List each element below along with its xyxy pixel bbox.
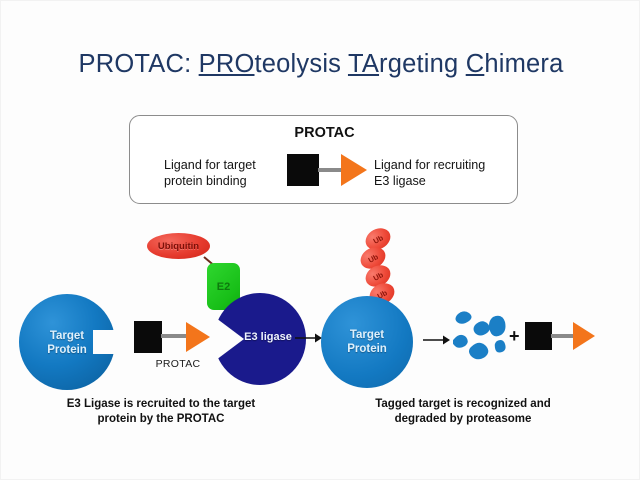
ligand-target-caption-line2: protein binding: [164, 174, 299, 190]
warhead-black-square: [287, 154, 319, 186]
ligand-e3-caption: Ligand for recruiting E3 ligase: [374, 158, 524, 189]
target-protein-right-line1: Target: [321, 329, 413, 343]
arrow-to-fragments: [423, 333, 451, 345]
plus-sign: +: [509, 326, 520, 347]
warhead-black-square-left: [134, 321, 162, 353]
ligand-e3-caption-line2: E3 ligase: [374, 174, 524, 190]
title-underline-ta: TA: [348, 50, 379, 78]
target-protein-right-line2: Protein: [321, 343, 413, 357]
linker-bar-left: [161, 334, 188, 338]
caption-right: Tagged target is recognized and degraded…: [327, 397, 599, 426]
title-rest-himera: himera: [484, 50, 563, 78]
target-protein-right: Target Protein: [321, 296, 413, 388]
protac-molecule-left-label: PROTAC: [143, 358, 213, 370]
e3-binder-orange-triangle: [341, 154, 367, 186]
title-underline-pro: PRO: [199, 50, 255, 78]
ubiquitin-badge: Ubiquitin: [147, 233, 210, 259]
protac-box-heading: PROTAC: [130, 125, 519, 141]
degraded-fragments: [453, 307, 513, 369]
arrow-left-to-right: [295, 331, 323, 343]
protac-molecule-left: [134, 319, 218, 357]
target-protein-right-label: Target Protein: [321, 329, 413, 356]
caption-right-line2: degraded by proteasome: [327, 412, 599, 427]
caption-left-line2: protein by the PROTAC: [25, 412, 297, 427]
e3-binder-orange-triangle-right: [573, 322, 595, 350]
protac-definition-box: PROTAC Ligand for target protein binding…: [129, 115, 518, 204]
ligand-target-caption: Ligand for target protein binding: [164, 158, 299, 189]
target-protein-left-shape: [19, 294, 115, 390]
ligand-e3-caption-line1: Ligand for recruiting: [374, 158, 524, 174]
arrow-icon-2: [423, 334, 451, 346]
caption-left-line1: E3 Ligase is recruited to the target: [25, 397, 297, 412]
title-underline-c: C: [466, 50, 485, 78]
title-rest-teolysis: teolysis: [255, 50, 348, 78]
page-title: PROTAC: PROteolysis TArgeting Chimera: [1, 50, 640, 79]
e3-binder-orange-triangle-left: [186, 322, 210, 352]
linker-bar-right: [551, 334, 575, 338]
caption-left: E3 Ligase is recruited to the target pro…: [25, 397, 297, 426]
slide-canvas: PROTAC: PROteolysis TArgeting Chimera PR…: [0, 0, 640, 480]
linker-bar: [318, 168, 343, 172]
arrow-icon-1: [295, 332, 323, 344]
warhead-black-square-right: [525, 322, 552, 350]
protac-molecule-right: [525, 321, 607, 355]
caption-right-line1: Tagged target is recognized and: [327, 397, 599, 412]
target-protein-left: Target Protein: [19, 294, 115, 390]
title-rest-rgeting: rgeting: [379, 50, 466, 78]
ligand-target-caption-line1: Ligand for target: [164, 158, 299, 174]
fragments-svg: [453, 307, 513, 369]
protac-molecule-diagram: [287, 152, 369, 188]
title-prefix: PROTAC:: [79, 50, 199, 78]
